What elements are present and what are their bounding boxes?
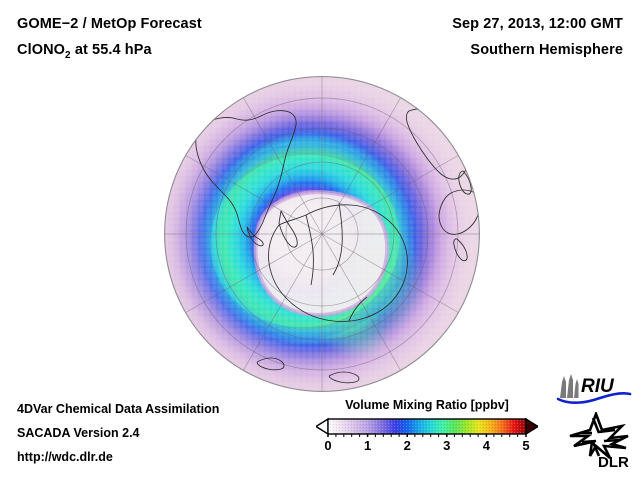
colorbar-tick-2: 2 [404, 438, 411, 453]
colorbar-dither [328, 419, 526, 434]
page-title: GOME−2 / MetOp Forecast [17, 16, 202, 32]
riu-logo-svg: RIU [556, 372, 632, 406]
dlr-logo-svg: DLR [566, 412, 634, 470]
species-subtitle: ClONO2 at 55.4 hPa [17, 42, 152, 58]
colorbar-tick-1: 1 [364, 438, 371, 453]
hemisphere-label: Southern Hemisphere [470, 42, 623, 58]
figure-canvas: GOME−2 / MetOp Forecast ClONO2 at 55.4 h… [0, 0, 640, 480]
colorbar-high-arrow [526, 419, 538, 434]
riu-towers-icon [560, 374, 579, 398]
version-label: SACADA Version 2.4 [17, 426, 140, 440]
method-label: 4DVar Chemical Data Assimilation [17, 402, 219, 416]
species-altitude: at 55.4 hPa [71, 42, 152, 58]
colorbar-low-arrow [316, 419, 328, 434]
colorbar-tick-5: 5 [522, 438, 529, 453]
dlr-wordmark: DLR [598, 454, 629, 470]
riu-logo: RIU [556, 372, 632, 406]
timestamp-label: Sep 27, 2013, 12:00 GMT [452, 16, 623, 32]
colorbar-tick-3: 3 [443, 438, 450, 453]
map-disc [163, 75, 481, 393]
colorbar-tick-4: 4 [483, 438, 490, 453]
dlr-logo: DLR [566, 412, 634, 470]
colorbar-title: Volume Mixing Ratio [ppbv] [316, 398, 538, 412]
colorbar-svg [316, 417, 538, 437]
globe-map [163, 75, 481, 393]
source-url-label[interactable]: http://wdc.dlr.de [17, 450, 113, 464]
colorbar-legend: Volume Mixing Ratio [ppbv] [316, 398, 538, 458]
colorbar-tick-labels: 0 1 2 3 4 5 [316, 438, 538, 458]
orthographic-projection [163, 75, 481, 393]
dlr-lattice-icon [570, 414, 628, 458]
colorbar-tick-0: 0 [324, 438, 331, 453]
colorbar-strip [316, 417, 538, 437]
species-name: ClONO [17, 42, 65, 58]
